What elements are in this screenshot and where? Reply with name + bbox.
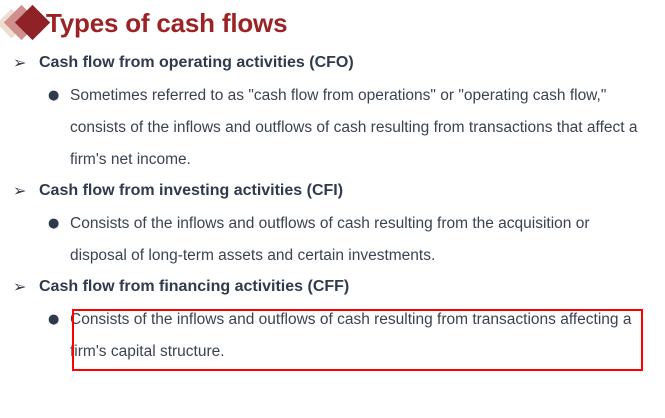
- arrow-bullet-icon: ➢: [13, 176, 39, 206]
- list-item-heading: ➢ Cash flow from financing activities (C…: [0, 272, 665, 304]
- heading-cff: Cash flow from financing activities (CFF…: [39, 272, 349, 302]
- list-item-body: ● Sometimes referred to as "cash flow fr…: [0, 80, 665, 176]
- list-item-body: ● Consists of the inflows and outflows o…: [0, 304, 665, 368]
- slide-title-row: Types of cash flows: [0, 3, 287, 43]
- list-item-heading: ➢ Cash flow from operating activities (C…: [0, 48, 665, 80]
- dot-bullet-icon: ●: [48, 208, 70, 240]
- heading-cfi: Cash flow from investing activities (CFI…: [39, 176, 343, 206]
- slide-canvas: Types of cash flows ➢ Cash flow from ope…: [0, 0, 665, 418]
- body-cfi: Consists of the inflows and outflows of …: [70, 208, 646, 272]
- list-item-heading: ➢ Cash flow from investing activities (C…: [0, 176, 665, 208]
- page-title: Types of cash flows: [46, 10, 287, 36]
- arrow-bullet-icon: ➢: [13, 272, 39, 302]
- arrow-bullet-icon: ➢: [13, 48, 39, 78]
- dot-bullet-icon: ●: [48, 304, 70, 336]
- list-item-body: ● Consists of the inflows and outflows o…: [0, 208, 665, 272]
- body-cfo: Sometimes referred to as "cash flow from…: [70, 80, 646, 176]
- dot-bullet-icon: ●: [48, 80, 70, 112]
- diamond-decoration-icon: [0, 4, 46, 42]
- heading-cfo: Cash flow from operating activities (CFO…: [39, 48, 354, 78]
- body-cff: Consists of the inflows and outflows of …: [70, 304, 636, 368]
- bullet-list: ➢ Cash flow from operating activities (C…: [0, 48, 665, 368]
